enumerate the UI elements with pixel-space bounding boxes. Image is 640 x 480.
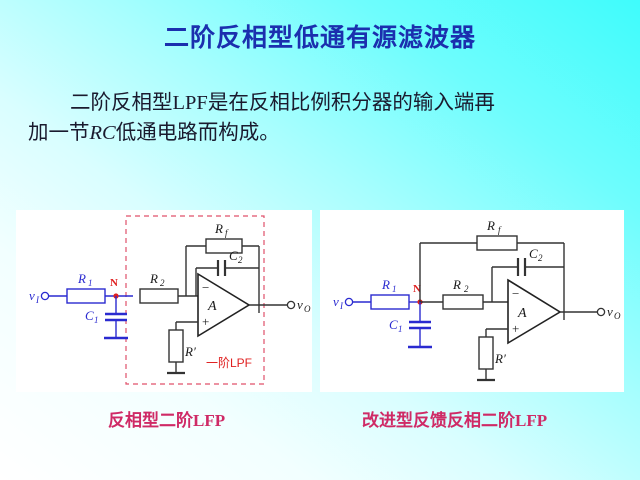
r2-label: R bbox=[149, 271, 158, 286]
c1-label-right-sub: 1 bbox=[398, 324, 403, 334]
rf-label-sub: f bbox=[225, 228, 229, 238]
input-terminal-right bbox=[345, 298, 352, 305]
rprime-label-right: R′ bbox=[494, 351, 506, 366]
resistor-rf-right bbox=[477, 236, 517, 250]
c1-label-sub: 1 bbox=[94, 315, 99, 325]
resistor-r1-right bbox=[371, 295, 409, 309]
r2-label-sub: 2 bbox=[160, 278, 165, 288]
output-label: v bbox=[297, 297, 303, 312]
body-paragraph: 二阶反相型LPF是在反相比例积分器的输入端再 加一节RC低通电路而构成。 bbox=[28, 88, 618, 148]
body-line-2-suffix: 低通电路而构成。 bbox=[116, 122, 280, 144]
body-line-1: 二阶反相型LPF是在反相比例积分器的输入端再 bbox=[70, 92, 495, 114]
resistor-rprime bbox=[169, 330, 183, 362]
resistor-r2-right bbox=[443, 295, 483, 309]
input-terminal-left bbox=[41, 292, 48, 299]
page-title: 二阶反相型低通有源滤波器 bbox=[0, 18, 640, 54]
r1-label-sub: 1 bbox=[88, 278, 93, 288]
c1-label: C bbox=[85, 308, 94, 323]
r1-label-right-sub: 1 bbox=[392, 284, 397, 294]
body-line-2-rc: RC bbox=[90, 122, 116, 144]
input-label-right-sub: I bbox=[339, 301, 344, 311]
output-terminal-left bbox=[287, 301, 294, 308]
c2-label-sub: 2 bbox=[238, 255, 243, 265]
input-label: v bbox=[29, 288, 35, 303]
opamp-noninverting-sign: + bbox=[202, 314, 209, 329]
node-n-label: N bbox=[110, 277, 118, 289]
opamp-label: A bbox=[207, 299, 217, 314]
resistor-rprime-right bbox=[479, 337, 493, 369]
opamp-inverting-sign-right: − bbox=[512, 286, 519, 301]
c1-label-right: C bbox=[389, 317, 398, 332]
output-label-sub: O bbox=[304, 304, 311, 314]
c2-label: C bbox=[229, 248, 238, 263]
opamp-noninverting-sign-right: + bbox=[512, 321, 519, 336]
circuit-figure-left: v I R 1 N C 1 R 2 R f C 2 A − + v O R′ bbox=[16, 210, 312, 392]
output-terminal-right bbox=[597, 308, 604, 315]
figure-caption-right: 改进型反馈反相二阶LFP bbox=[362, 406, 547, 431]
figure-caption-left: 反相型二阶LFP bbox=[108, 406, 225, 431]
opamp-label-right: A bbox=[517, 306, 527, 321]
r1-label-right: R bbox=[381, 277, 390, 292]
c2-label-right: C bbox=[529, 246, 538, 261]
r2-label-right: R bbox=[452, 277, 461, 292]
lpf-annotation-label: 一阶LPF bbox=[206, 356, 252, 370]
input-label-right: v bbox=[333, 294, 339, 309]
rf-label-right: R bbox=[486, 218, 495, 233]
c2-label-right-sub: 2 bbox=[538, 253, 543, 263]
rf-label: R bbox=[214, 221, 223, 236]
circuit-figure-right: v I R 1 N C 1 R f R 2 C 2 A − + v O R′ bbox=[320, 210, 624, 392]
r1-label: R bbox=[77, 271, 86, 286]
r2-label-right-sub: 2 bbox=[464, 284, 469, 294]
input-label-sub: I bbox=[35, 295, 40, 305]
resistor-r2 bbox=[140, 289, 178, 303]
rprime-label: R′ bbox=[184, 344, 196, 359]
rf-label-right-sub: f bbox=[498, 225, 502, 235]
output-label-right-sub: O bbox=[614, 311, 621, 321]
output-label-right: v bbox=[607, 304, 613, 319]
opamp-inverting-sign: − bbox=[202, 280, 209, 295]
body-line-2-prefix: 加一节 bbox=[28, 122, 90, 144]
resistor-r1 bbox=[67, 289, 105, 303]
